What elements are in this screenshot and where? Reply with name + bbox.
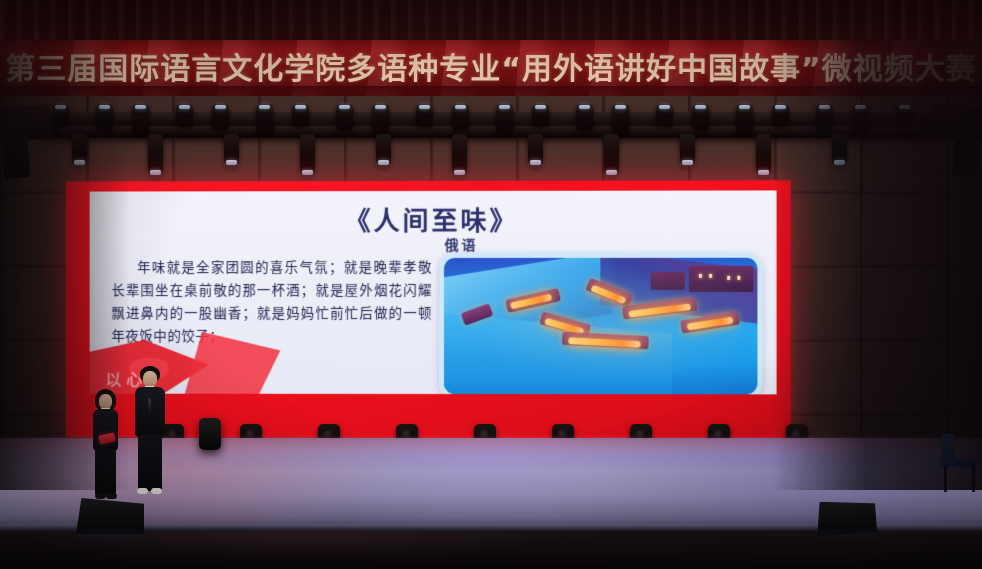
light-lens xyxy=(339,105,350,109)
light-lens xyxy=(454,170,465,175)
light-lens xyxy=(226,160,237,165)
photo-atmosphere xyxy=(444,258,757,395)
truss-light xyxy=(496,104,513,134)
truss-light xyxy=(532,104,549,126)
light-lens xyxy=(758,170,769,175)
truss-moving-head-light xyxy=(376,134,391,166)
left-wall-shadow xyxy=(0,40,130,490)
truss-moving-head-light xyxy=(452,134,467,176)
truss-light xyxy=(736,104,753,134)
presenter-male xyxy=(130,366,174,498)
legs-trousers xyxy=(138,435,162,491)
slide-title: 《人间至味》 xyxy=(90,200,777,238)
truss-light xyxy=(416,104,433,126)
truss-light xyxy=(452,104,469,130)
microphone xyxy=(148,398,151,412)
truss-light xyxy=(292,104,309,126)
truss-light xyxy=(176,104,193,126)
light-lens xyxy=(615,105,626,109)
truss-light xyxy=(336,104,353,130)
shoe xyxy=(151,488,162,494)
light-lens xyxy=(535,105,546,109)
light-lens xyxy=(659,105,670,109)
led-screen: 《人间至味》 俄语 年味就是全家团圆的喜乐气氛；就是晚辈孝敬长辈围坐在桌前敬的那… xyxy=(66,180,791,438)
light-lens xyxy=(215,105,226,109)
light-lens xyxy=(695,105,706,109)
light-lens xyxy=(739,105,750,109)
light-lens xyxy=(135,105,146,109)
truss-moving-head-light xyxy=(756,134,771,176)
light-lens xyxy=(455,105,466,109)
truss-light xyxy=(132,104,149,134)
right-wall-shadow xyxy=(772,40,982,490)
light-lens xyxy=(259,105,270,109)
light-lens xyxy=(295,105,306,109)
stage-scene: 第三届国际语言文化学院多语种专业“用外语讲好中国故事”微视频大赛 《人间至味》 … xyxy=(0,0,982,569)
light-lens xyxy=(378,160,389,165)
truss-light xyxy=(692,104,709,130)
truss-light xyxy=(656,104,673,126)
torso-suit xyxy=(135,387,165,437)
light-lens xyxy=(179,105,190,109)
truss-moving-head-light xyxy=(224,134,239,166)
truss-moving-head-light xyxy=(528,134,543,166)
truss-light xyxy=(576,104,593,130)
head xyxy=(143,371,157,387)
light-lens xyxy=(499,105,510,109)
monitor-speaker-left xyxy=(76,498,144,534)
presentation-slide: 《人间至味》 俄语 年味就是全家团圆的喜乐气氛；就是晚辈孝敬长辈围坐在桌前敬的那… xyxy=(90,190,777,394)
slide-photo-snow-village xyxy=(439,253,762,395)
truss-moving-head-light xyxy=(148,134,163,176)
light-lens xyxy=(530,160,541,165)
light-lens xyxy=(606,170,617,175)
truss-light xyxy=(372,104,389,134)
shoe xyxy=(95,493,106,499)
truss-moving-head-light xyxy=(680,134,695,166)
truss-moving-head-light xyxy=(300,134,315,176)
shoe xyxy=(106,493,117,499)
light-lens xyxy=(302,170,313,175)
truss-moving-head-light xyxy=(604,134,619,176)
truss-light xyxy=(212,104,229,130)
shoe xyxy=(137,488,148,494)
slide-body-text: 年味就是全家团圆的喜乐气氛；就是晚辈孝敬长辈围坐在桌前敬的那一杯酒；就是屋外烟花… xyxy=(111,257,432,349)
light-lens xyxy=(419,105,430,109)
monitor-speaker-right-reflection xyxy=(818,530,876,542)
light-lens xyxy=(150,170,161,175)
truss-light xyxy=(256,104,273,134)
stage-floor-light xyxy=(199,418,221,450)
monitor-speaker-left-reflection xyxy=(78,530,142,544)
light-lens xyxy=(375,105,386,109)
light-lens xyxy=(579,105,590,109)
truss-light xyxy=(612,104,629,134)
light-lens xyxy=(682,160,693,165)
